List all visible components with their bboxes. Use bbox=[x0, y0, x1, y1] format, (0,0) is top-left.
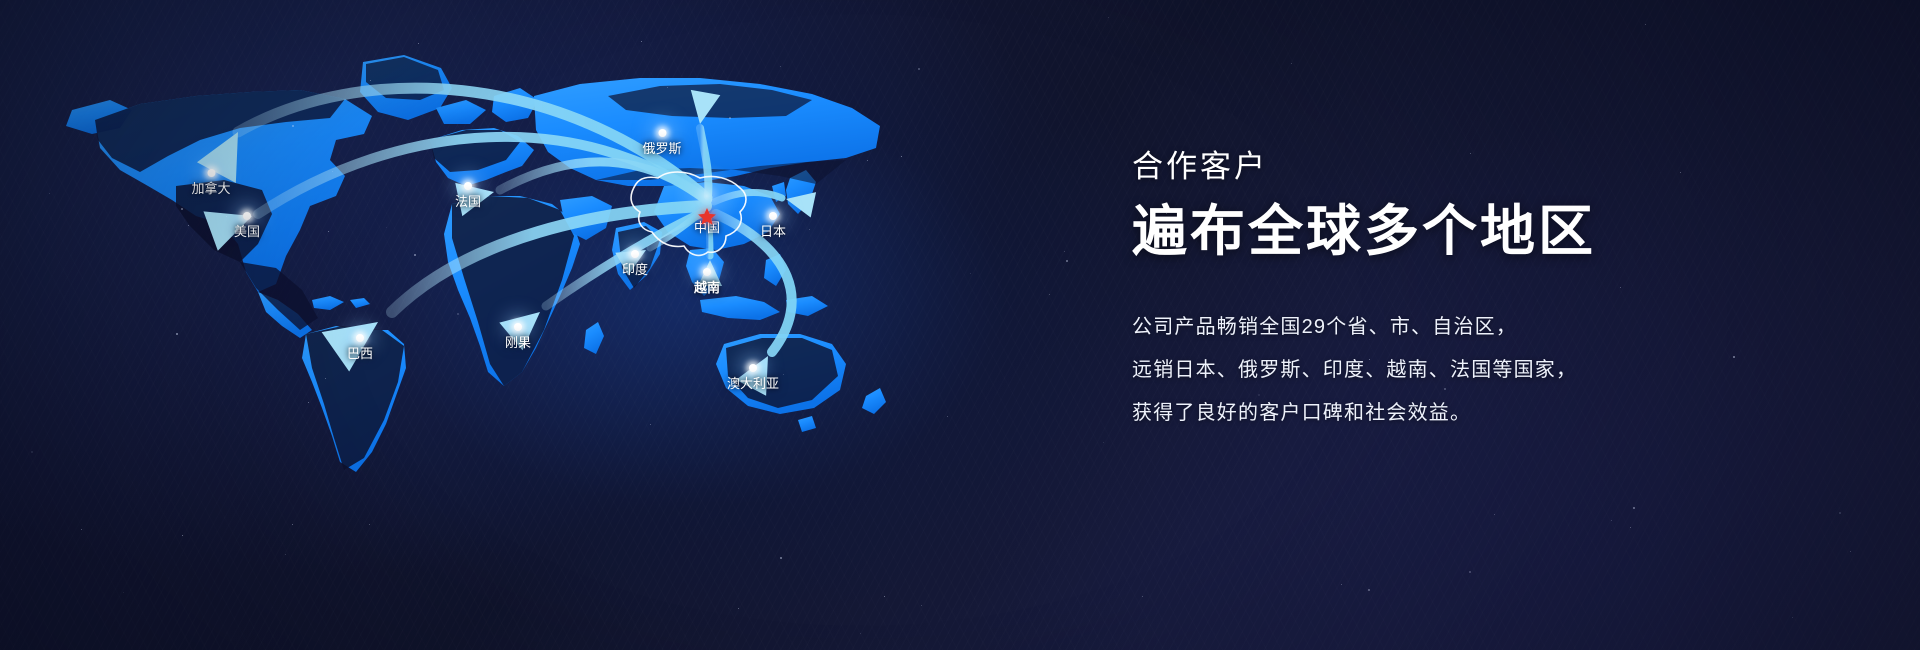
star-speck bbox=[1630, 527, 1631, 528]
eyebrow-title: 合作客户 bbox=[1132, 146, 1852, 188]
marker-label: 美国 bbox=[234, 225, 260, 239]
map-marker-7[interactable]: 中国 bbox=[694, 208, 720, 235]
map-marker-10[interactable]: 澳大利亚 bbox=[727, 364, 779, 391]
star-speck bbox=[1839, 512, 1841, 514]
map-marker-5[interactable]: 俄罗斯 bbox=[642, 129, 681, 156]
marker-dot-icon bbox=[243, 212, 251, 220]
star-speck bbox=[1291, 63, 1292, 64]
description-line: 获得了良好的客户口碑和社会效益。 bbox=[1132, 392, 1852, 435]
marker-dot-icon bbox=[749, 364, 757, 372]
star-speck bbox=[1792, 617, 1793, 618]
star-speck bbox=[1142, 596, 1143, 597]
marker-label: 澳大利亚 bbox=[727, 377, 779, 391]
star-speck bbox=[1645, 24, 1646, 25]
marker-dot-icon bbox=[769, 212, 777, 220]
marker-label: 印度 bbox=[622, 263, 648, 277]
hero-banner: 加拿大美国巴西刚果法国俄罗斯印度中国日本越南澳大利亚 合作客户 遍布全球多个地区… bbox=[0, 0, 1920, 650]
map-marker-1[interactable]: 美国 bbox=[234, 212, 260, 239]
page-title: 遍布全球多个地区 bbox=[1132, 196, 1852, 266]
description-line: 公司产品畅销全国29个省、市、自治区， bbox=[1132, 306, 1852, 349]
description-block: 公司产品畅销全国29个省、市、自治区，远销日本、俄罗斯、印度、越南、法国等国家，… bbox=[1132, 306, 1852, 435]
map-marker-8[interactable]: 日本 bbox=[760, 212, 786, 239]
map-marker-0[interactable]: 加拿大 bbox=[191, 169, 230, 196]
marker-label: 法国 bbox=[455, 195, 481, 209]
star-speck bbox=[1064, 251, 1065, 252]
star-speck bbox=[1341, 584, 1342, 585]
marker-label: 加拿大 bbox=[191, 182, 230, 196]
map-marker-4[interactable]: 法国 bbox=[455, 182, 481, 209]
marker-dot-icon bbox=[514, 323, 522, 331]
star-speck bbox=[970, 273, 971, 274]
star-speck bbox=[1494, 514, 1495, 515]
star-speck bbox=[1469, 571, 1471, 573]
star-speck bbox=[1103, 442, 1104, 443]
map-marker-3[interactable]: 刚果 bbox=[505, 323, 531, 350]
marker-label: 巴西 bbox=[347, 347, 373, 361]
star-speck bbox=[1611, 520, 1612, 521]
marker-dot-icon bbox=[464, 182, 472, 190]
description-line: 远销日本、俄罗斯、印度、越南、法国等国家， bbox=[1132, 349, 1852, 392]
star-speck bbox=[1368, 589, 1370, 591]
map-marker-6[interactable]: 印度 bbox=[622, 250, 648, 277]
text-panel: 合作客户 遍布全球多个地区 公司产品畅销全国29个省、市、自治区，远销日本、俄罗… bbox=[1132, 146, 1852, 435]
marker-label: 俄罗斯 bbox=[642, 142, 681, 156]
star-speck bbox=[1049, 294, 1050, 295]
world-map-svg bbox=[0, 0, 960, 650]
star-speck bbox=[1633, 507, 1635, 509]
map-marker-9[interactable]: 越南 bbox=[694, 268, 720, 295]
map-marker-2[interactable]: 巴西 bbox=[347, 334, 373, 361]
marker-dot-icon bbox=[631, 250, 639, 258]
star-speck bbox=[1066, 260, 1068, 262]
marker-label: 日本 bbox=[760, 225, 786, 239]
marker-label: 越南 bbox=[694, 281, 720, 295]
marker-dot-icon bbox=[207, 169, 215, 177]
marker-dot-icon bbox=[658, 129, 666, 137]
marker-dot-icon bbox=[356, 334, 364, 342]
star-speck bbox=[1850, 551, 1851, 552]
world-map: 加拿大美国巴西刚果法国俄罗斯印度中国日本越南澳大利亚 bbox=[0, 0, 960, 650]
star-speck bbox=[1108, 17, 1109, 18]
marker-dot-icon bbox=[703, 268, 711, 276]
marker-label: 刚果 bbox=[505, 336, 531, 350]
